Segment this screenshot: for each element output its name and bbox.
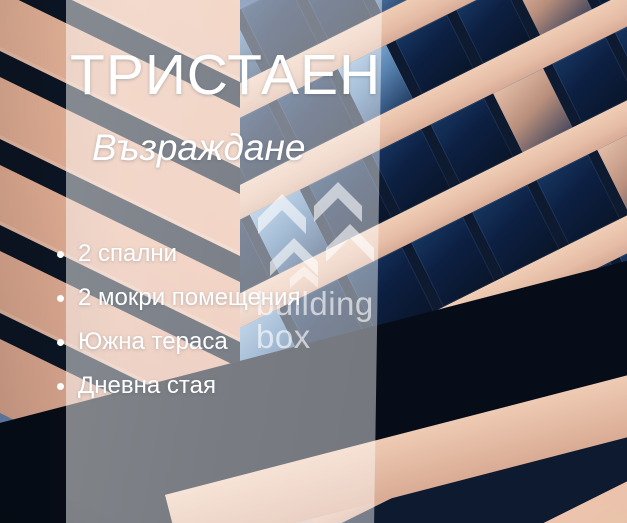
list-item: 2 спални [56, 240, 386, 268]
promo-image: building box ТРИСТАЕН Възраждане 2 спалн… [0, 0, 627, 523]
listing-subtitle: Възраждане [92, 126, 305, 170]
list-item: Южна тераса [56, 328, 386, 356]
listing-content: ТРИСТАЕН Възраждане 2 спални 2 мокри пом… [0, 0, 627, 523]
list-item: Дневна стая [56, 372, 386, 400]
feature-list: 2 спални 2 мокри помещения Южна тераса Д… [56, 240, 386, 416]
list-item: 2 мокри помещения [56, 284, 386, 312]
page-title: ТРИСТАЕН [70, 44, 381, 106]
